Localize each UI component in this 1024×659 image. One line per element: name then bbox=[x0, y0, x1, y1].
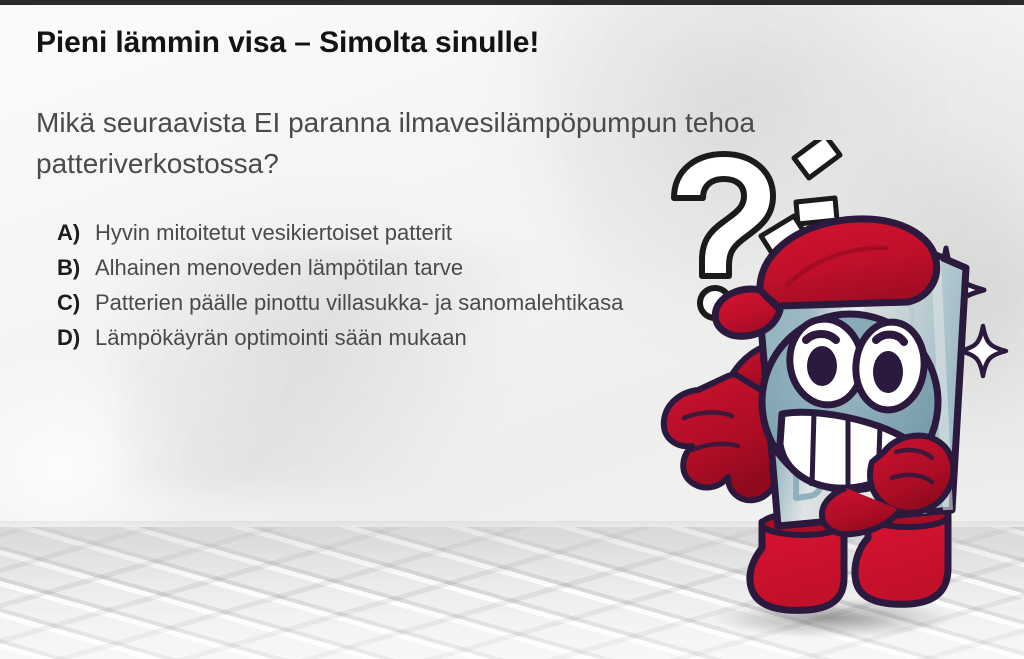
option-letter-d: D) bbox=[57, 321, 95, 354]
quiz-slide: Pieni lämmin visa – Simolta sinulle! Mik… bbox=[0, 0, 1024, 659]
option-letter-b: B) bbox=[57, 251, 95, 284]
pupil-left bbox=[807, 346, 837, 386]
page-title: Pieni lämmin visa – Simolta sinulle! bbox=[36, 26, 539, 60]
option-letter-c: C) bbox=[57, 286, 95, 319]
answer-options-list: A) Hyvin mitoitetut vesikiertoiset patte… bbox=[57, 216, 677, 356]
answer-option-d[interactable]: D) Lämpökäyrän optimointi sään mukaan bbox=[57, 321, 677, 354]
answer-option-b[interactable]: B) Alhainen menoveden lämpötilan tarve bbox=[57, 251, 677, 284]
top-accent-bar bbox=[0, 0, 1024, 5]
option-text-c: Patterien päälle pinottu villasukka- ja … bbox=[95, 286, 677, 319]
option-text-a: Hyvin mitoitetut vesikiertoiset patterit bbox=[95, 216, 677, 249]
cap-brim bbox=[715, 289, 780, 336]
option-letter-a: A) bbox=[57, 216, 95, 249]
heat-pump-mascot bbox=[636, 140, 1024, 650]
pupil-right bbox=[873, 351, 903, 393]
sparkle-small-icon bbox=[960, 326, 1006, 376]
answer-option-c[interactable]: C) Patterien päälle pinottu villasukka- … bbox=[57, 286, 677, 319]
option-text-d: Lämpökäyrän optimointi sään mukaan bbox=[95, 321, 677, 354]
answer-option-a[interactable]: A) Hyvin mitoitetut vesikiertoiset patte… bbox=[57, 216, 677, 249]
option-text-b: Alhainen menoveden lämpötilan tarve bbox=[95, 251, 677, 284]
quiz-question: Mikä seuraavista EI paranna ilmavesilämp… bbox=[36, 102, 906, 184]
